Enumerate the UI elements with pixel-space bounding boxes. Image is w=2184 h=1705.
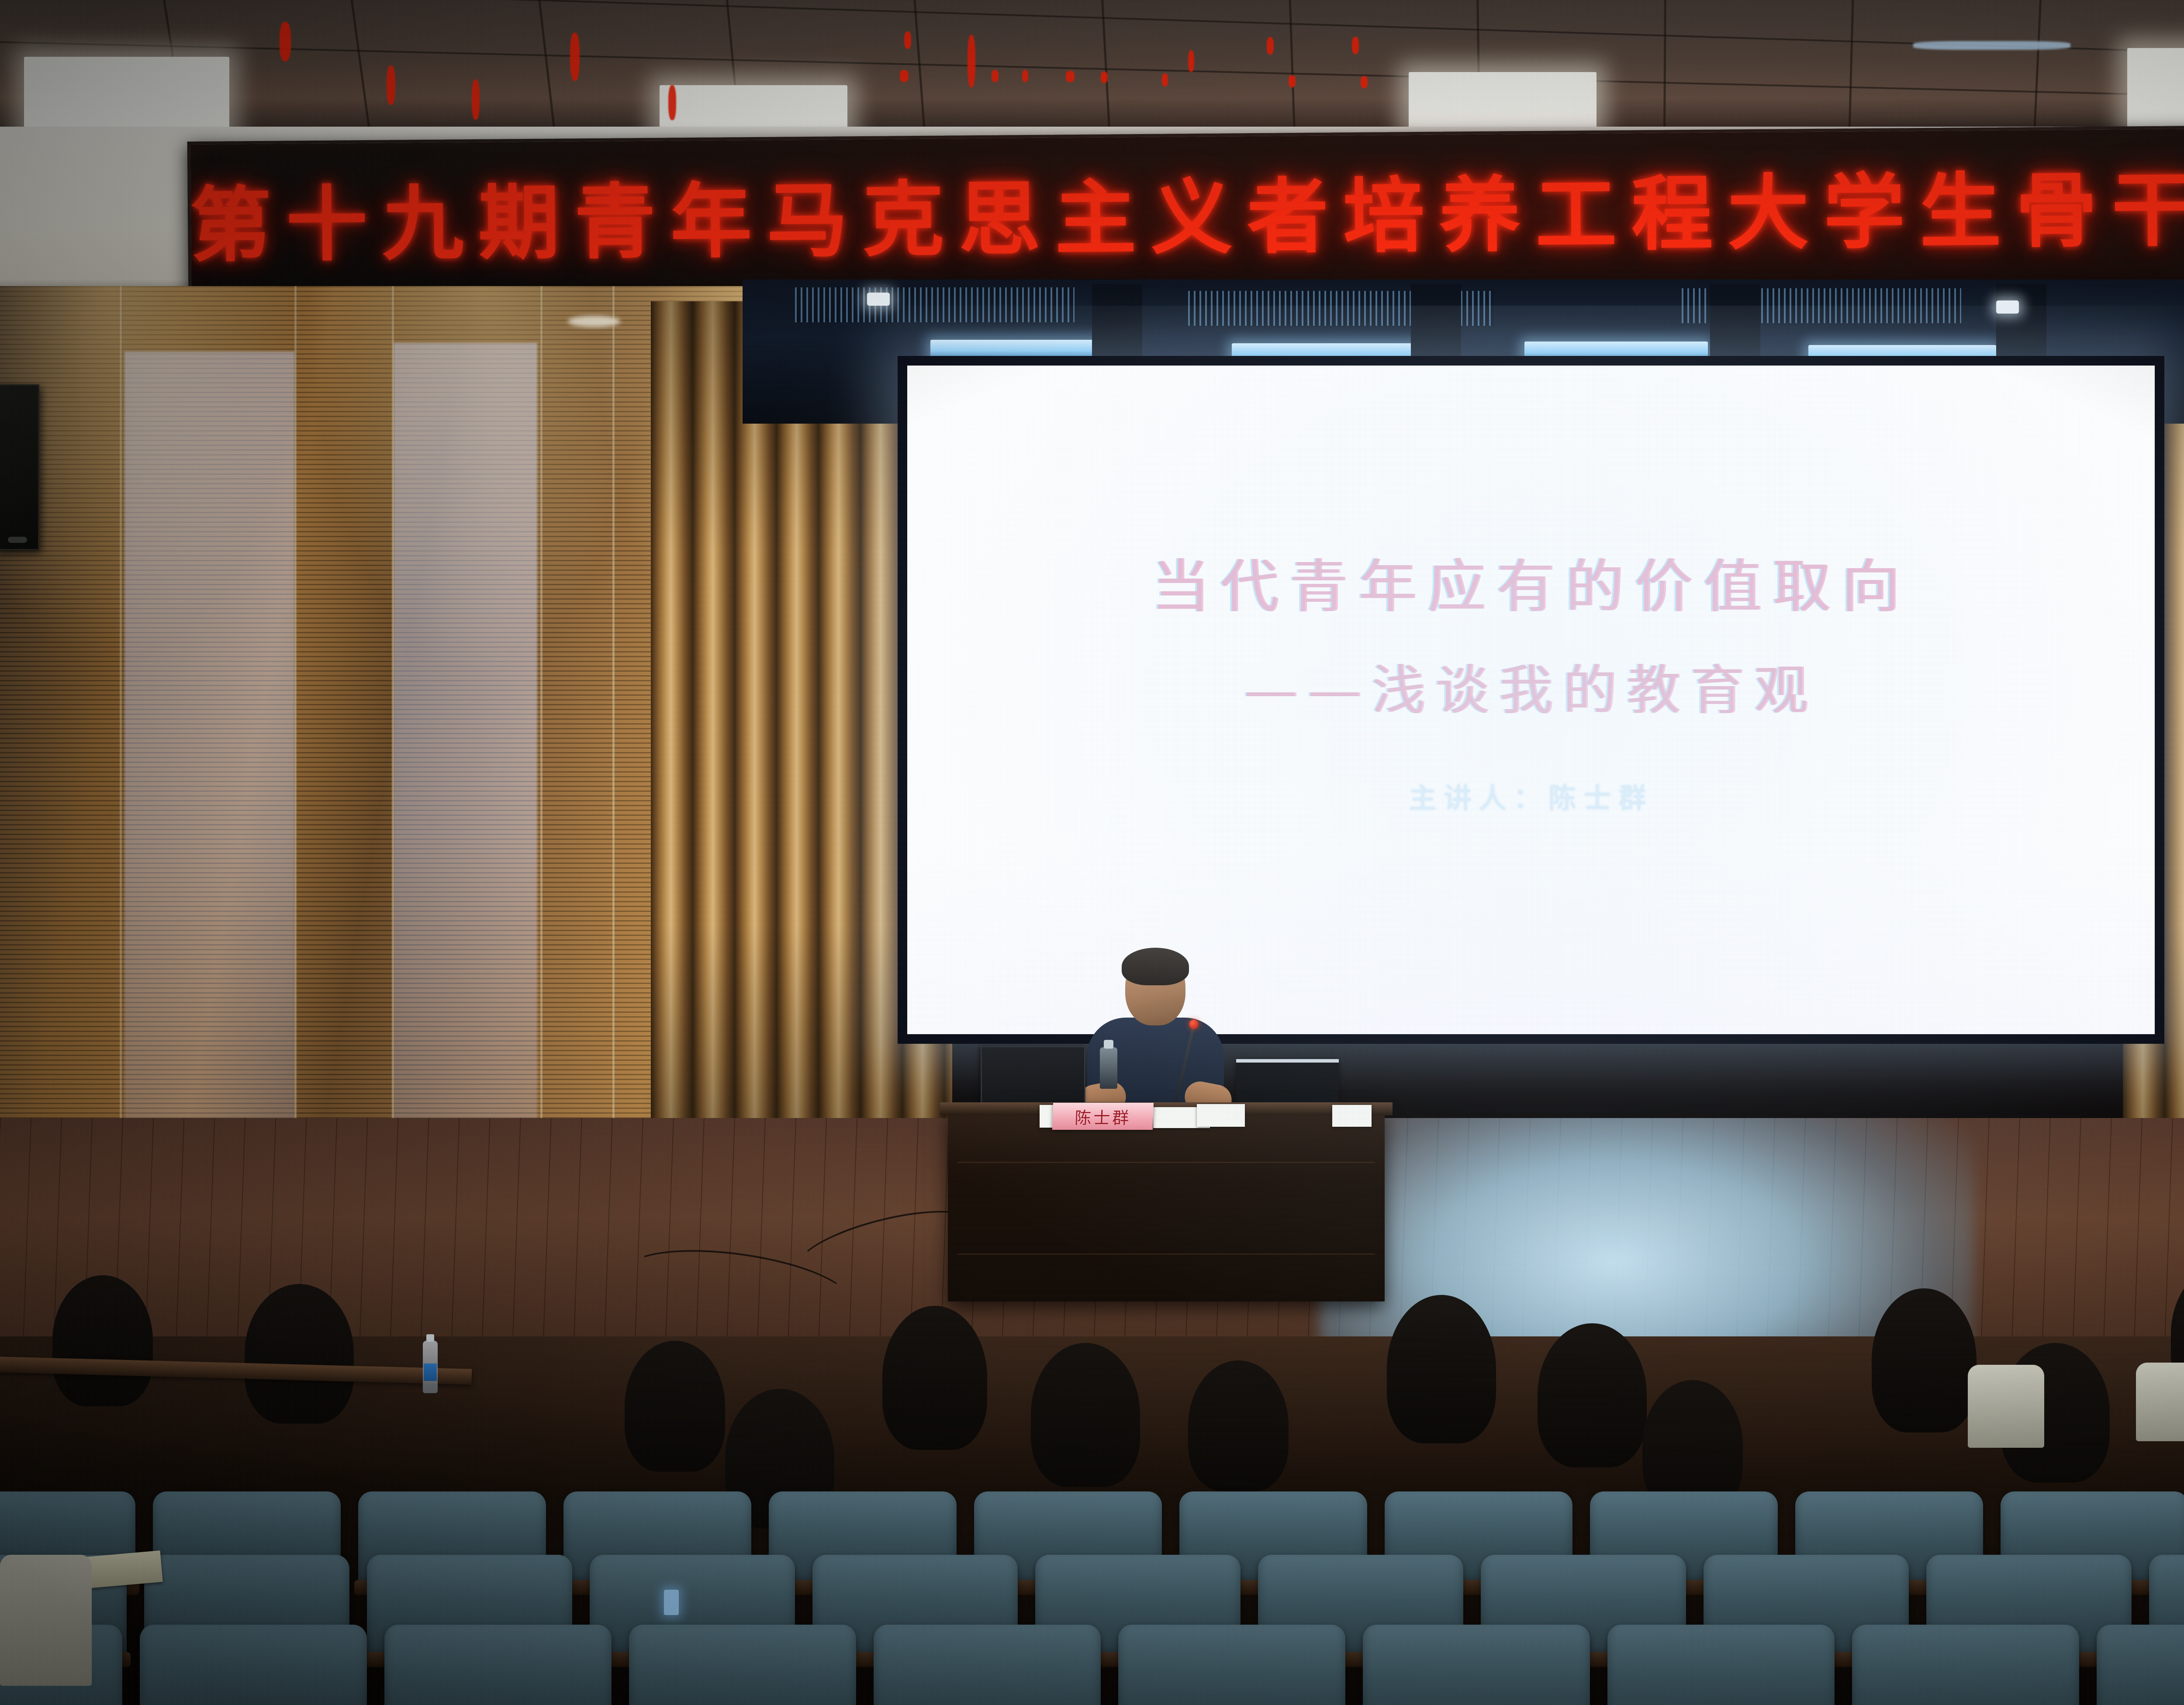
ceiling-led-reflection (900, 70, 909, 82)
phone-screen-glow (664, 1590, 679, 1615)
audience-seat (1363, 1625, 1590, 1705)
wall-cool-panel (124, 352, 295, 1168)
audience-seat (2097, 1625, 2184, 1705)
wall-cool-panel (393, 343, 537, 1164)
audience-light-shirt (0, 1555, 92, 1686)
audience-seat (1607, 1625, 1835, 1705)
audience-seat (874, 1625, 1101, 1705)
paper-sheet (1197, 1104, 1245, 1127)
ceiling-led-reflection (1162, 73, 1168, 86)
ceiling-tile-line (349, 0, 372, 131)
ceiling-led-reflection (904, 31, 911, 49)
ceiling-light-panel (2127, 48, 2184, 131)
audience-seat (629, 1625, 856, 1705)
wall-downlight (568, 316, 620, 327)
table-skirt-line (957, 1253, 1375, 1255)
led-banner-text: 第十九期青年马克思主义者培养工程大学生骨干培训班专题报告 (187, 164, 2184, 266)
ceiling-light-panel (24, 57, 229, 131)
ceiling-led-reflection (968, 35, 975, 87)
ceiling-led-reflection (570, 33, 580, 81)
audience-head (1538, 1323, 1647, 1467)
auditorium-photo-scene: 第十九期青年马克思主义者培养工程大学生骨干培训班专题报告 (0, 0, 2184, 1705)
audience-head (1872, 1288, 1977, 1432)
ceiling-grille (795, 287, 1075, 322)
ceiling-tile-line (1848, 0, 1854, 131)
ceiling-led-reflection (280, 22, 291, 61)
name-plate-text: 陈士群 (1075, 1104, 1132, 1129)
speaker-box-left (0, 384, 39, 550)
ceiling-led-reflection (1267, 37, 1274, 55)
ceiling-led-reflection (1361, 76, 1368, 88)
audience-seat (384, 1625, 612, 1705)
ceiling-tile-line (913, 0, 926, 131)
audience-light-shirt (2136, 1363, 2184, 1441)
ceiling-tile-line (1101, 0, 1111, 131)
ceiling-led-reflection (1022, 70, 1028, 82)
paper-sheet (1332, 1105, 1372, 1127)
audience-light-shirt (1968, 1365, 2044, 1448)
ceiling-led-reflection (1066, 71, 1075, 82)
audience-head (1188, 1360, 1289, 1491)
ceiling-led-reflection (1352, 37, 1359, 54)
stage-spotlight (1996, 300, 2019, 314)
ceiling (0, 0, 2184, 131)
projection-screen-frame: 当代青年应有的价值取向 ——浅谈我的教育观 主讲人：陈士群 (898, 356, 2164, 1044)
ceiling-light-panel (1409, 72, 1597, 131)
name-plate: 陈士群 (1052, 1103, 1154, 1130)
presenter-table (948, 1109, 1385, 1301)
audience-head (625, 1341, 725, 1472)
ceiling-tile-line (537, 0, 556, 131)
ceiling-led-reflection (472, 79, 480, 120)
ceiling-led-reflection (1289, 75, 1296, 87)
presenter-person (1083, 952, 1227, 1127)
audience-seat (1118, 1625, 1345, 1705)
slide-subtitle: ——浅谈我的教育观 (1244, 647, 1818, 725)
water-bottle-desk (1100, 1047, 1117, 1089)
slide-presenter: 主讲人：陈士群 (1409, 776, 1653, 816)
ceiling-tile-line (1663, 0, 1666, 131)
ceiling-led-reflection (1188, 50, 1194, 72)
ceiling-tile-line (1289, 0, 1296, 131)
presenter-hair (1122, 948, 1189, 985)
stage-spotlight (867, 293, 890, 306)
audience-seat (140, 1625, 367, 1705)
audience-head (1387, 1295, 1496, 1443)
audience-head (52, 1275, 153, 1406)
ceiling-led-reflection (992, 70, 999, 82)
audience-head (1031, 1343, 1140, 1487)
slide-title: 当代青年应有的价值取向 (1151, 540, 1911, 624)
ceiling-led-reflection (1101, 72, 1108, 83)
ceiling-led-reflection (668, 85, 676, 120)
water-bottle-audience (423, 1341, 438, 1393)
audience-head (882, 1306, 987, 1450)
audience-head (245, 1284, 354, 1424)
ceiling-led-reflection (387, 66, 395, 105)
table-skirt-line (957, 1162, 1375, 1163)
audience-seat (1852, 1625, 2079, 1705)
ceiling-light-panel (660, 85, 847, 131)
ceiling-blue-reflection (1913, 41, 2070, 50)
projection-screen: 当代青年应有的价值取向 ——浅谈我的教育观 主讲人：陈士群 (907, 366, 2155, 1034)
ceiling-tile-line (2033, 0, 2042, 131)
stage-light-bar (930, 340, 1114, 358)
ceiling-tile-line (0, 0, 2, 131)
ceiling-tile-line (0, 41, 2184, 118)
